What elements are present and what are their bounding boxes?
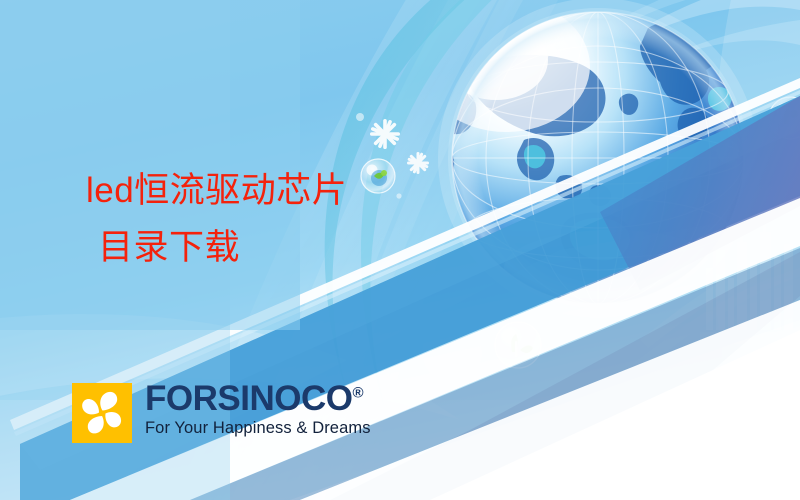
four-petal-pinwheel-icon: [72, 383, 132, 443]
headline-line-1: led恒流驱动芯片: [86, 171, 347, 210]
logo-text-block: FORSINOCO® For Your Happiness & Dreams: [145, 381, 371, 438]
wordmark-label: FORSINOCO: [145, 379, 352, 418]
logo-tagline: For Your Happiness & Dreams: [145, 418, 371, 438]
headline-line-2: 目录下载: [86, 220, 416, 277]
registered-trademark-icon: ®: [352, 384, 363, 401]
headline-text: led恒流驱动芯片 目录下载: [86, 163, 416, 276]
promo-banner: led恒流驱动芯片 目录下载 FORSINOCO® For Your Happ: [0, 0, 800, 500]
logo-wordmark: FORSINOCO®: [145, 381, 371, 417]
company-logo: FORSINOCO® For Your Happiness & Dreams: [72, 383, 371, 443]
